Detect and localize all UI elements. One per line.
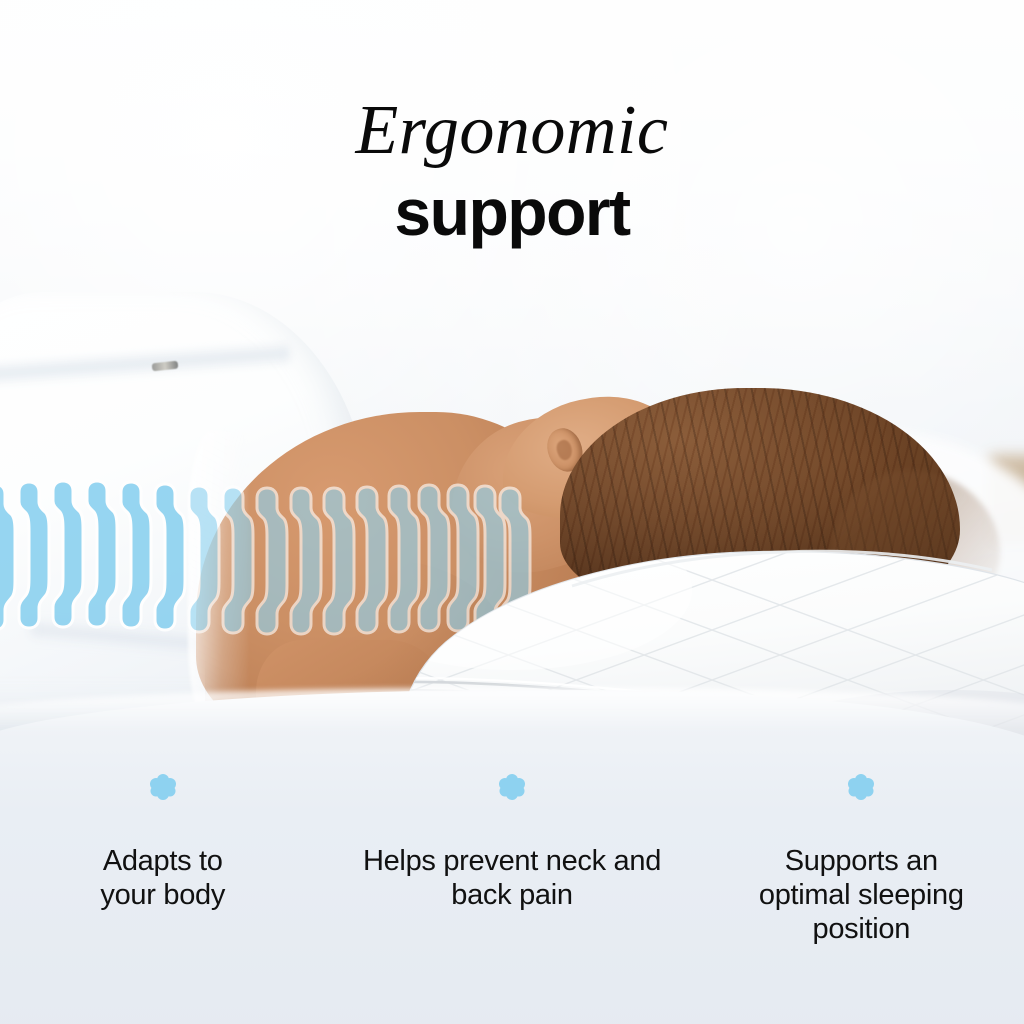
feature-list: Adapts to your body Helps prevent neck xyxy=(0,772,1024,947)
feature-label: Adapts to your body xyxy=(100,844,225,912)
marketing-image: Ergonomic support Adapts to y xyxy=(0,0,1024,1024)
headline-line-1: Ergonomic xyxy=(0,96,1024,166)
feature-item-adapts: Adapts to your body xyxy=(0,772,325,947)
feature-label: Helps prevent neck and back pain xyxy=(363,844,661,912)
feature-label: Supports an optimal sleeping position xyxy=(759,844,964,947)
flower-icon xyxy=(497,772,527,802)
bed-sheet-highlight xyxy=(0,688,1024,732)
flower-icon xyxy=(846,772,876,802)
feature-item-sleeping-position: Supports an optimal sleeping position xyxy=(699,772,1024,947)
headline-line-2: support xyxy=(0,178,1024,247)
flower-icon xyxy=(148,772,178,802)
feature-item-neck-back-pain: Helps prevent neck and back pain xyxy=(325,772,698,947)
headline-block: Ergonomic support xyxy=(0,96,1024,247)
